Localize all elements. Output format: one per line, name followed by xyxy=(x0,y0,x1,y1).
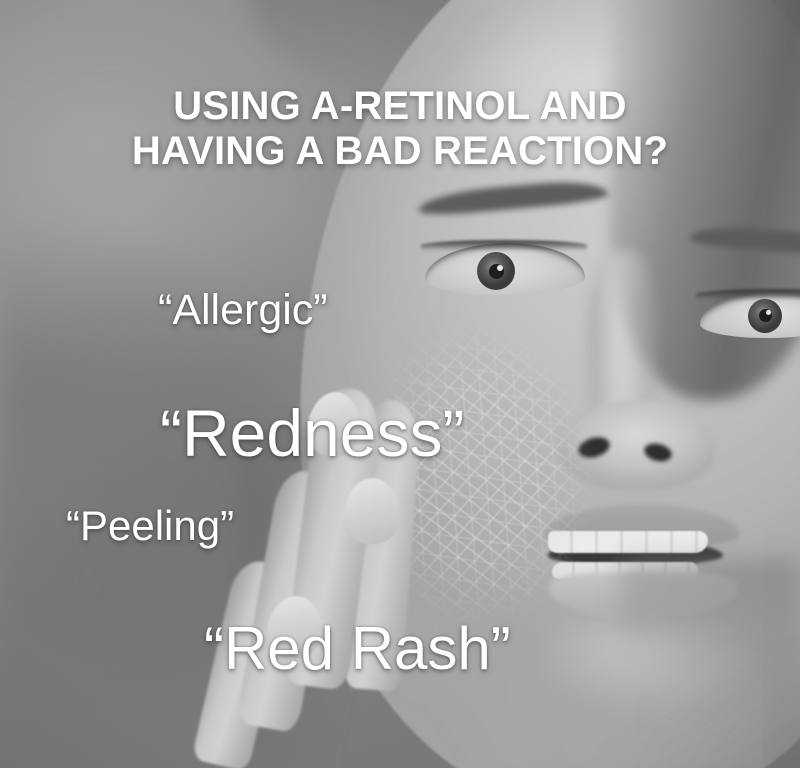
retinol-reaction-ad-banner: USING A-RETINOL AND HAVING A BAD REACTIO… xyxy=(0,0,800,768)
headline: USING A-RETINOL AND HAVING A BAD REACTIO… xyxy=(0,84,800,174)
quote-redness: “Redness” xyxy=(160,395,464,471)
headline-line-2: HAVING A BAD REACTION? xyxy=(0,129,800,174)
quote-allergic: “Allergic” xyxy=(158,286,328,335)
quote-peeling: “Peeling” xyxy=(66,502,234,550)
quote-red-rash: “Red Rash” xyxy=(204,614,511,683)
headline-line-1: USING A-RETINOL AND xyxy=(0,84,800,129)
